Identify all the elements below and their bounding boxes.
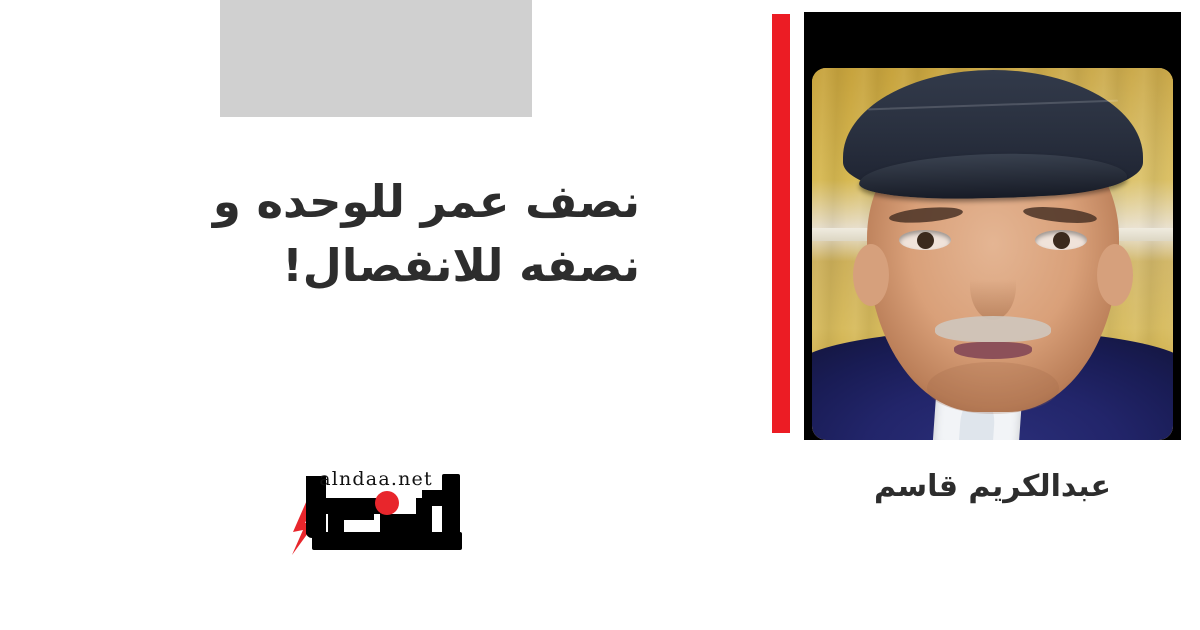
ear-left xyxy=(853,244,889,306)
author-photo xyxy=(812,68,1173,440)
page-title: نصف عمر للوحده و نصفه للانفصال! xyxy=(60,170,640,298)
eyebrow-right xyxy=(1022,204,1097,226)
ear-right xyxy=(1097,244,1133,306)
mouth-shape xyxy=(954,342,1032,359)
article-share-card: نصف عمر للوحده و نصفه للانفصال! xyxy=(0,0,1200,630)
image-placeholder-block xyxy=(220,0,532,117)
accent-bar xyxy=(772,14,790,433)
moustache-shape xyxy=(935,316,1051,342)
eyebrow-left xyxy=(888,205,963,225)
logo-domain-text: alndaa.net xyxy=(319,468,433,490)
headline-line-2: نصفه للانفصال! xyxy=(282,239,640,292)
cap-seam xyxy=(868,100,1118,111)
eye-right xyxy=(1035,230,1087,250)
author-name-caption: عبدالكريم قاسم xyxy=(804,468,1181,506)
author-photo-frame xyxy=(804,12,1181,440)
headline-column: نصف عمر للوحده و نصفه للانفصال! xyxy=(60,170,640,298)
site-logo[interactable]: alndaa.net xyxy=(276,452,476,562)
nose-shape xyxy=(970,252,1016,320)
chin-shape xyxy=(927,362,1059,414)
alndaa-logo-mark: alndaa.net xyxy=(276,452,476,562)
headline-line-1: نصف عمر للوحده و xyxy=(213,175,640,228)
eye-left xyxy=(899,230,951,250)
logo-red-dot xyxy=(375,491,399,515)
